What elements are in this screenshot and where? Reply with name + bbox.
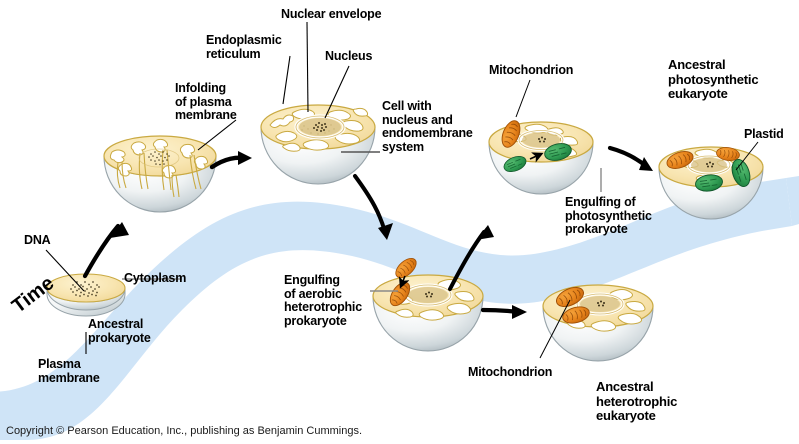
nucleus-cell bbox=[261, 105, 375, 184]
label-endoplasmic-reticulum: Endoplasmic reticulum bbox=[206, 34, 282, 61]
infolding-cell bbox=[104, 136, 216, 212]
label-plastid: Plastid bbox=[744, 128, 784, 142]
label-ancestral-heterotrophic: Ancestral heterotrophic eukaryote bbox=[596, 380, 677, 424]
arrow-prokaryote-to-infolding bbox=[85, 226, 118, 276]
leader-mitochondrion-top bbox=[516, 80, 530, 117]
leader-endoplasmic-reticulum bbox=[283, 56, 290, 104]
label-dna: DNA bbox=[24, 234, 50, 248]
label-engulfing-photosynthetic: Engulfing of photosynthetic prokaryote bbox=[565, 196, 652, 237]
label-plasma-membrane: Plasma membrane bbox=[38, 358, 100, 385]
leader-infolding bbox=[198, 120, 236, 150]
label-nucleus: Nucleus bbox=[325, 50, 372, 64]
label-infolding: Infolding of plasma membrane bbox=[175, 82, 237, 123]
leader-nuclear-envelope bbox=[307, 22, 308, 112]
label-mitochondrion-top: Mitochondrion bbox=[489, 64, 573, 78]
engulfing-photosynthetic-cell bbox=[489, 118, 593, 194]
leader-lines-stage3 bbox=[283, 22, 349, 118]
label-ancestral-photosynthetic: Ancestral photosynthetic eukaryote bbox=[668, 58, 758, 102]
label-ancestral-prokaryote: Ancestral prokaryote bbox=[88, 318, 151, 345]
arrow-engulfing-photo-to-photosynthetic bbox=[610, 148, 646, 166]
copyright-notice: Copyright © Pearson Education, Inc., pub… bbox=[6, 425, 362, 437]
ancestral-prokaryote-cell bbox=[47, 274, 125, 316]
label-engulfing-aerobic: Engulfing of aerobic heterotrophic proka… bbox=[284, 274, 362, 328]
heterotrophic-eukaryote-cell bbox=[543, 284, 653, 361]
label-mitochondrion-bottom: Mitochondrion bbox=[468, 366, 552, 380]
figure-endosymbiosis: Time DNA Cytoplasm Plasma membrane Ances… bbox=[0, 0, 799, 444]
label-cell-with-nucleus: Cell with nucleus and endomembrane syste… bbox=[382, 100, 473, 154]
label-cytoplasm: Cytoplasm bbox=[124, 272, 186, 286]
label-nuclear-envelope: Nuclear envelope bbox=[281, 8, 381, 22]
